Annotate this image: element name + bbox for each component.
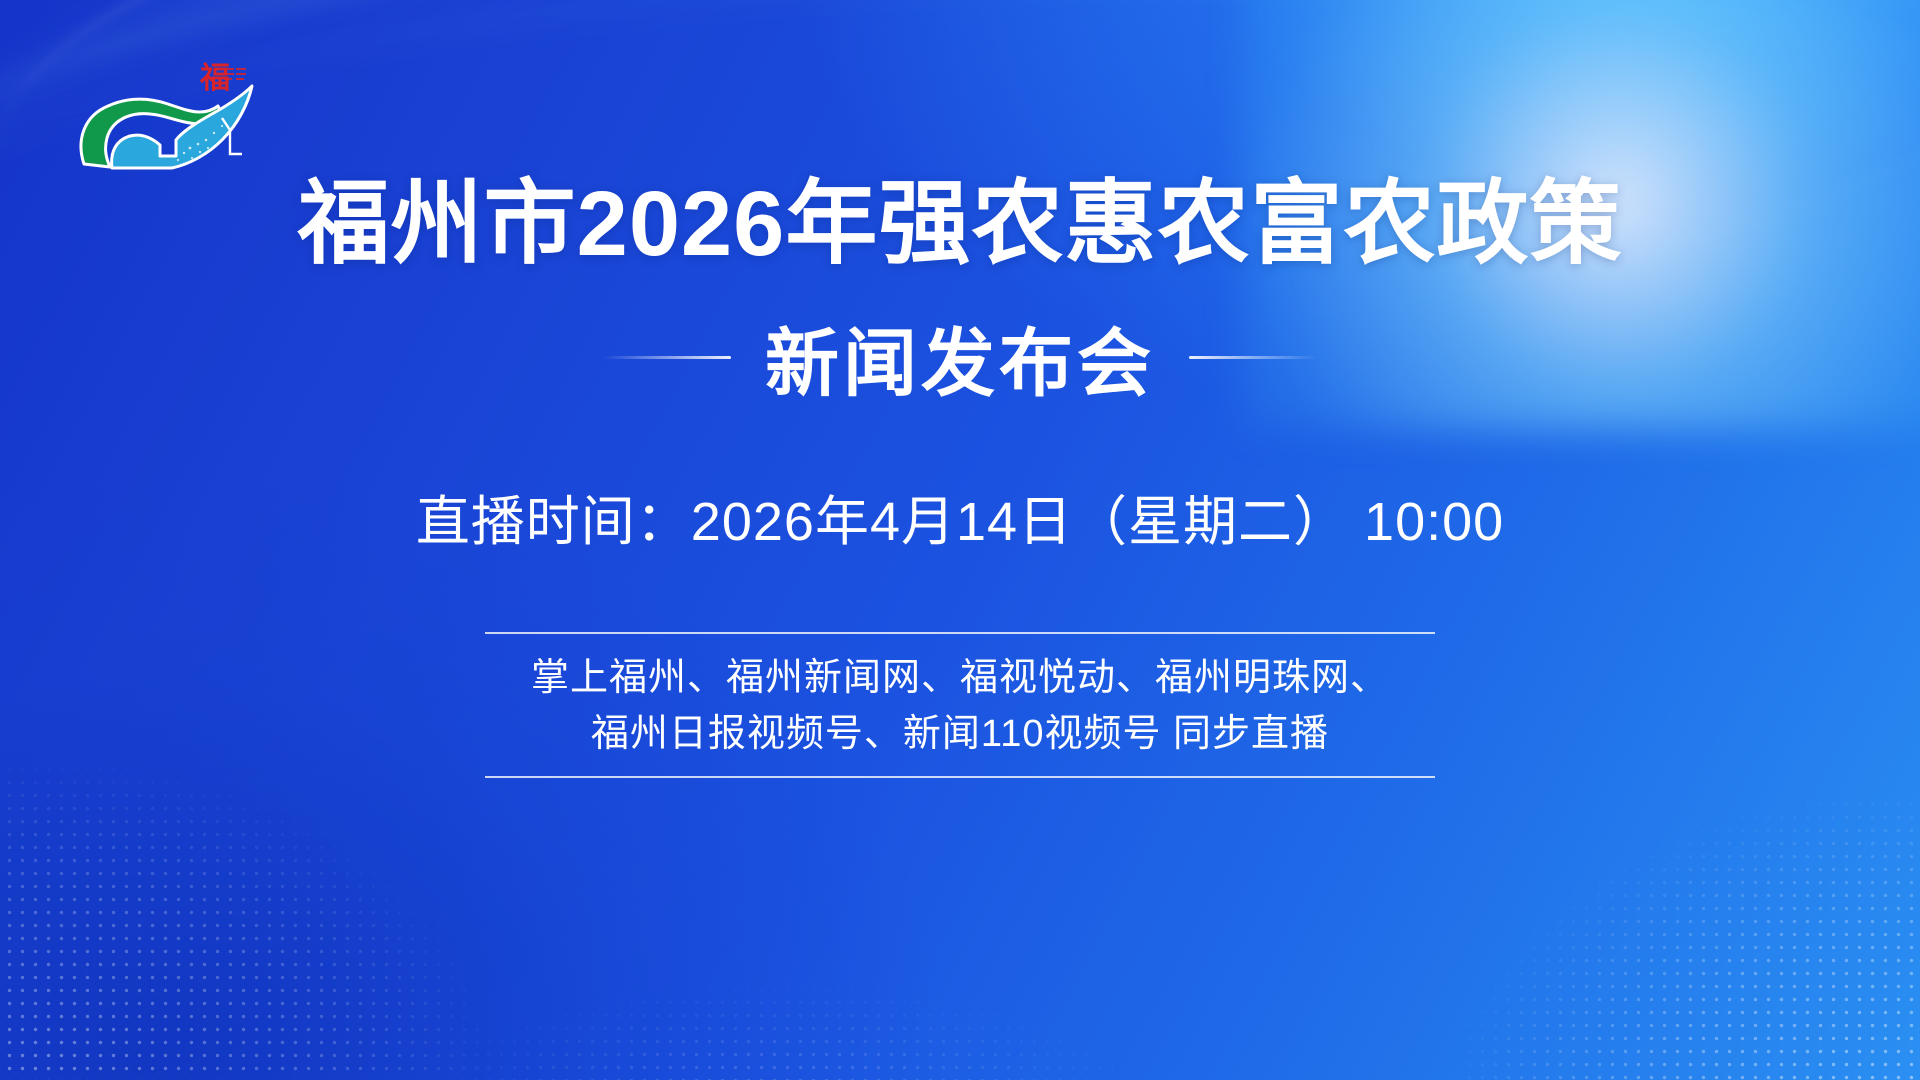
- channel-line-1: 掌上福州、福州新闻网、福视悦动、福州明珠网、: [485, 650, 1435, 706]
- poster-content: 福州市2026年强农惠农富农政策 新闻发布会 直播时间：2026年4月14日（星…: [0, 176, 1920, 778]
- channel-line-2: 福州日报视频号、新闻110视频号 同步直播: [485, 706, 1435, 762]
- logo-seal-marks: [224, 68, 246, 80]
- fuzhou-city-logo: 福: [72, 52, 272, 172]
- decorative-dash-left: [603, 356, 731, 359]
- broadcast-channels: 掌上福州、福州新闻网、福视悦动、福州明珠网、 福州日报视频号、新闻110视频号 …: [485, 632, 1435, 778]
- fuzhou-city-logo-icon: 福: [72, 52, 272, 172]
- news-conference-poster: 福 福州市2026年强农惠农富农政策 新闻发布会 直播时间：2026年4月14日…: [0, 0, 1920, 1080]
- page-title: 福州市2026年强农惠农富农政策: [0, 176, 1920, 274]
- page-subtitle: 新闻发布会: [765, 304, 1155, 411]
- subtitle-row: 新闻发布会: [0, 304, 1920, 411]
- logo-fu-seal: 福: [199, 62, 246, 95]
- broadcast-datetime: 直播时间：2026年4月14日（星期二） 10:00: [0, 477, 1920, 556]
- decorative-dash-right: [1189, 356, 1317, 359]
- halftone-dots-bottom-center: [430, 840, 1130, 1080]
